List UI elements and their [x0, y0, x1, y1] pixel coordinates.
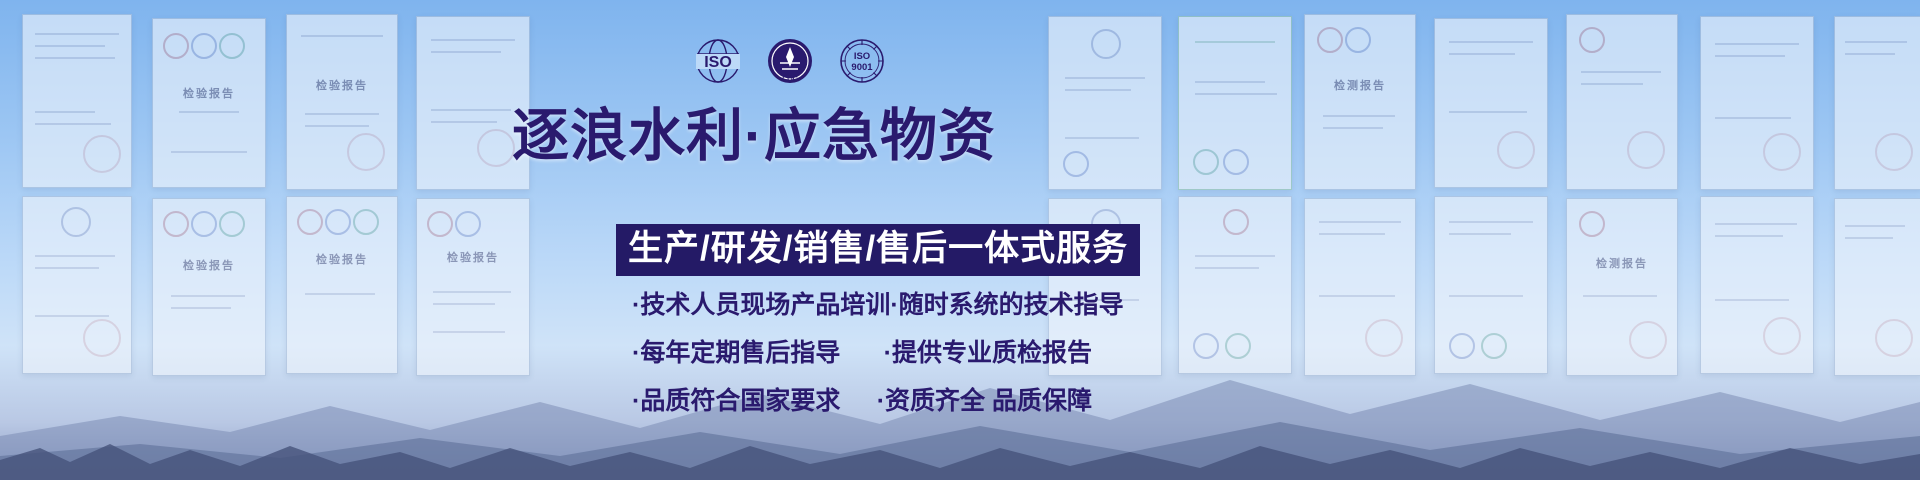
- bullet-row: ·每年定期售后指导 ·提供专业质检报告: [632, 336, 1092, 370]
- bullet-item: ·资质齐全 品质保障: [877, 384, 1092, 418]
- bullet-item: ·随时系统的技术指导: [890, 288, 1123, 322]
- bullet-item: ·提供专业质检报告: [884, 336, 1092, 370]
- subtitle-text: 生产/研发/销售/售后一体式服务: [628, 229, 1128, 269]
- bullet-item: ·技术人员现场产品培训: [632, 288, 890, 322]
- feature-bullets: ·技术人员现场产品培训 ·随时系统的技术指导 ·每年定期售后指导 ·提供专业质检…: [632, 288, 1092, 432]
- subtitle-bar: 生产/研发/销售/售后一体式服务: [616, 224, 1140, 276]
- banner-content: 逐浪水利·应急物资 生产/研发/销售/售后一体式服务 ·技术人员现场产品培训 ·…: [0, 0, 1920, 480]
- bullet-item: ·品质符合国家要求: [632, 384, 877, 418]
- bullet-row: ·技术人员现场产品培训 ·随时系统的技术指导: [632, 288, 1092, 322]
- bullet-row: ·品质符合国家要求 ·资质齐全 品质保障: [632, 384, 1092, 418]
- page-title: 逐浪水利·应急物资: [512, 104, 1072, 168]
- bullet-item: ·每年定期售后指导: [632, 336, 884, 370]
- promo-banner: 检验报告 检验报告: [0, 0, 1920, 480]
